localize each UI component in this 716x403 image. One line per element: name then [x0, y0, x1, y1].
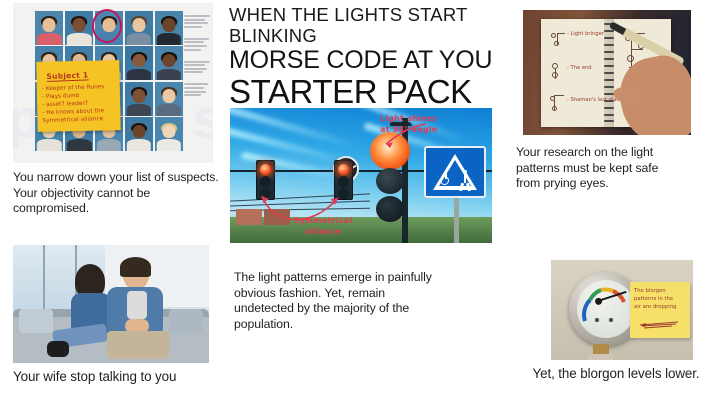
- yearbook-portrait: [155, 11, 183, 45]
- person-man: [109, 261, 183, 363]
- yearbook-portrait: [125, 82, 153, 116]
- caption-yearbook: You narrow down your list of suspects. Y…: [13, 170, 227, 217]
- caption-couple: Your wife stop talking to you: [13, 368, 223, 385]
- yearbook-portrait: [65, 11, 93, 45]
- yearbook-portrait: [125, 11, 153, 45]
- yearbook-portrait: [125, 46, 153, 80]
- meme-title: WHEN THE LIGHTS START BLINKING MORSE COD…: [229, 5, 495, 111]
- notebook-note-2: - The end: [567, 65, 592, 72]
- suspect-circle-annotation: [92, 9, 122, 43]
- couple-on-couch-image: [13, 245, 209, 363]
- starter-pack-meme: WHEN THE LIGHTS START BLINKING MORSE COD…: [0, 0, 716, 403]
- annotation-symmetrical-alliance: Symmetrical alliance: [288, 216, 358, 238]
- title-line-3: STARTER PACK: [229, 74, 495, 110]
- yearbook-portrait: [155, 82, 183, 116]
- gauge-color-arcs: [577, 280, 635, 338]
- yearbook-image: photos: [13, 3, 213, 163]
- title-line-1: WHEN THE LIGHTS START BLINKING: [229, 5, 495, 46]
- pressure-gauge-image: The blorgon patterns in the air are drop…: [551, 260, 693, 360]
- caption-traffic-lights: The light patterns emerge in painfully o…: [234, 270, 496, 333]
- yearbook-portrait: [155, 117, 183, 151]
- suspect-sticky-note: Subject 1 - Keeper of the Runes - Plays …: [36, 60, 120, 132]
- squiggle-underline-icon: [638, 320, 680, 330]
- morse-glyph-2: [551, 63, 565, 79]
- morse-glyph-3: [550, 95, 566, 113]
- gauge-sticky-note-text: The blorgon patterns in the air are drop…: [634, 287, 686, 312]
- gauge-nut: [588, 354, 614, 360]
- yearbook-portrait: [125, 117, 153, 151]
- yearbook-portrait: [155, 46, 183, 80]
- yearbook-portrait: [35, 11, 63, 45]
- notebook-spiral-binding: [604, 19, 614, 127]
- sign-post: [454, 196, 459, 243]
- annotation-light-angle: Light shines at 98° angle: [380, 114, 466, 136]
- caption-gauge: Yet, the blorgon levels lower.: [516, 365, 716, 382]
- traffic-lights-image: Light shines at 98° angle Symmetrical al…: [230, 108, 492, 243]
- caption-notebook: Your research on the light patterns must…: [516, 145, 716, 192]
- sticky-note-title: Subject 1: [46, 70, 88, 82]
- pillow: [19, 309, 53, 333]
- sticky-note-line: Symmetrical alliance: [42, 115, 115, 126]
- gauge-sticky-note: The blorgon patterns in the air are drop…: [630, 282, 690, 338]
- notebook-note-1: - Light bringer: [567, 31, 604, 38]
- yearbook-name-column: [184, 15, 210, 106]
- notebook-image: - Light bringer - The end - Shaman's las…: [523, 10, 691, 135]
- title-line-2: MORSE CODE AT YOU: [229, 46, 495, 74]
- morse-glyph-1: [551, 31, 565, 47]
